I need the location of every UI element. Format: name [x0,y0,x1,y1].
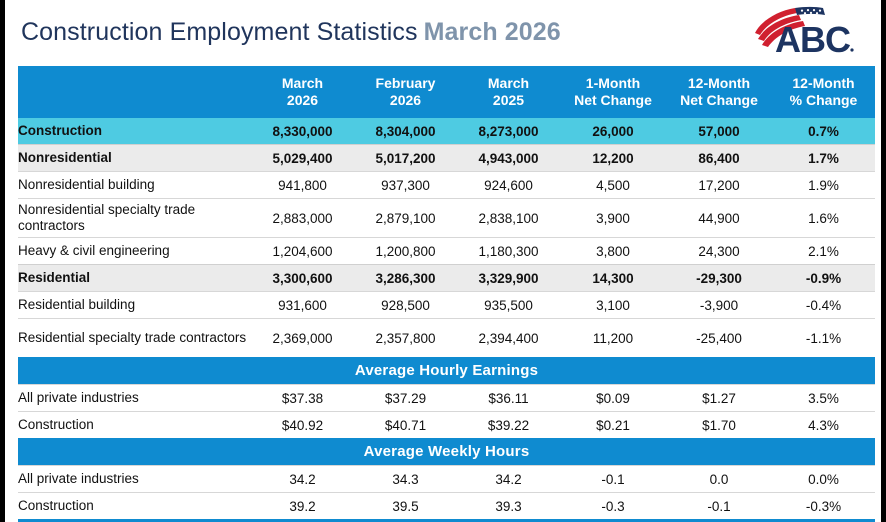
row-value: 1,180,300 [457,238,560,265]
table-row: Residential3,300,6003,286,3003,329,90014… [18,265,875,292]
row-label: Nonresidential specialty trade contracto… [18,199,251,238]
table-row: Residential building931,600928,500935,50… [18,292,875,319]
row-value: 941,800 [251,172,354,199]
row-value: $36.11 [457,385,560,412]
row-value: 2,357,800 [354,319,457,358]
abc-logo: ABC [747,3,859,59]
row-value: 0.0% [772,466,875,493]
table-row: Construction39.239.539.3-0.3-0.1-0.3% [18,493,875,520]
row-value: 11,200 [560,319,666,358]
table-row: All private industries34.234.334.2-0.10.… [18,466,875,493]
row-value: 39.2 [251,493,354,520]
row-value: 5,017,200 [354,145,457,172]
row-value: 8,304,000 [354,118,457,145]
row-value: 14,300 [560,265,666,292]
row-value: $37.38 [251,385,354,412]
row-value: 8,273,000 [457,118,560,145]
column-header-march-2026: March2026 [251,66,354,118]
column-header-1-month-net-change: 1-MonthNet Change [560,66,666,118]
row-label: Construction [18,118,251,145]
row-value: 3,900 [560,199,666,238]
row-value: 0.0 [666,466,772,493]
row-label: Residential building [18,292,251,319]
row-value: 12,200 [560,145,666,172]
table-body: Construction8,330,0008,304,0008,273,0002… [18,118,875,522]
row-value: 2,838,100 [457,199,560,238]
row-value: -0.9% [772,265,875,292]
row-value: 937,300 [354,172,457,199]
row-value: $37.29 [354,385,457,412]
row-value: 2,883,000 [251,199,354,238]
row-value: 44,900 [666,199,772,238]
row-value: -0.1 [560,466,666,493]
slide-canvas: Construction Employment StatisticsMarch … [0,0,886,522]
row-value: 3,300,600 [251,265,354,292]
row-value: 1,200,800 [354,238,457,265]
row-label: Residential [18,265,251,292]
row-value: 935,500 [457,292,560,319]
row-value: 2,879,100 [354,199,457,238]
row-value: 57,000 [666,118,772,145]
row-value: 1,204,600 [251,238,354,265]
table-row: Nonresidential specialty trade contracto… [18,199,875,238]
slide-header: Construction Employment StatisticsMarch … [5,0,881,62]
table-row: All private industries$37.38$37.29$36.11… [18,385,875,412]
employment-statistics-table: March2026 February2026 March2025 1-Month… [18,66,875,522]
section-band-row: Average Hourly Earnings [18,357,875,385]
page-title-main: Construction Employment Statistics [21,18,418,46]
column-header-12-month-net-change: 12-MonthNet Change [666,66,772,118]
row-value: 4,943,000 [457,145,560,172]
row-value: 24,300 [666,238,772,265]
row-value: 1.6% [772,199,875,238]
table-head: March2026 February2026 March2025 1-Month… [18,66,875,118]
column-header-march-2025: March2025 [457,66,560,118]
row-value: -0.3% [772,493,875,520]
table-row: Heavy & civil engineering1,204,6001,200,… [18,238,875,265]
page-title: Construction Employment StatisticsMarch … [21,18,561,47]
row-value: 34.3 [354,466,457,493]
statistics-table-wrapper: March2026 February2026 March2025 1-Month… [18,66,871,522]
row-value: -0.1 [666,493,772,520]
row-label: Construction [18,493,251,520]
table-row: Residential specialty trade contractors2… [18,319,875,358]
row-value: 3.5% [772,385,875,412]
row-value: -0.3 [560,493,666,520]
row-value: 86,400 [666,145,772,172]
row-value: 3,100 [560,292,666,319]
row-value: 34.2 [457,466,560,493]
row-value: -1.1% [772,319,875,358]
row-value: $0.21 [560,412,666,439]
column-header-label [18,66,251,118]
row-value: 3,286,300 [354,265,457,292]
row-value: 4,500 [560,172,666,199]
table-header-row: March2026 February2026 March2025 1-Month… [18,66,875,118]
section-band-label: Average Weekly Hours [18,438,875,466]
column-header-12-month-pct-change: 12-Month% Change [772,66,875,118]
row-label: Residential specialty trade contractors [18,319,251,358]
row-label: All private industries [18,466,251,493]
row-value: $1.70 [666,412,772,439]
row-value: 931,600 [251,292,354,319]
row-label: Nonresidential building [18,172,251,199]
row-value: 3,800 [560,238,666,265]
row-value: 1.7% [772,145,875,172]
row-value: 39.5 [354,493,457,520]
row-value: $40.92 [251,412,354,439]
row-value: 2,394,400 [457,319,560,358]
row-value: $1.27 [666,385,772,412]
row-value: -0.4% [772,292,875,319]
row-value: 0.7% [772,118,875,145]
row-value: 34.2 [251,466,354,493]
section-band-row: Average Weekly Hours [18,438,875,466]
row-value: $40.71 [354,412,457,439]
svg-text:ABC: ABC [775,19,851,59]
row-label: Heavy & civil engineering [18,238,251,265]
row-value: 39.3 [457,493,560,520]
row-value: $39.22 [457,412,560,439]
row-value: -29,300 [666,265,772,292]
row-label: Construction [18,412,251,439]
row-value: 8,330,000 [251,118,354,145]
row-label: All private industries [18,385,251,412]
row-value: 924,600 [457,172,560,199]
row-value: $0.09 [560,385,666,412]
row-value: 4.3% [772,412,875,439]
row-value: -3,900 [666,292,772,319]
table-row: Nonresidential5,029,4005,017,2004,943,00… [18,145,875,172]
table-row: Nonresidential building941,800937,300924… [18,172,875,199]
row-value: 5,029,400 [251,145,354,172]
row-value: 2,369,000 [251,319,354,358]
row-value: 1.9% [772,172,875,199]
row-value: 2.1% [772,238,875,265]
section-band-label: Average Hourly Earnings [18,357,875,385]
row-label: Nonresidential [18,145,251,172]
column-header-february-2026: February2026 [354,66,457,118]
table-row: Construction8,330,0008,304,0008,273,0002… [18,118,875,145]
row-value: 26,000 [560,118,666,145]
row-value: 3,329,900 [457,265,560,292]
page-title-month: March 2026 [424,18,561,46]
row-value: 17,200 [666,172,772,199]
row-value: -25,400 [666,319,772,358]
table-row: Construction$40.92$40.71$39.22$0.21$1.70… [18,412,875,439]
row-value: 928,500 [354,292,457,319]
